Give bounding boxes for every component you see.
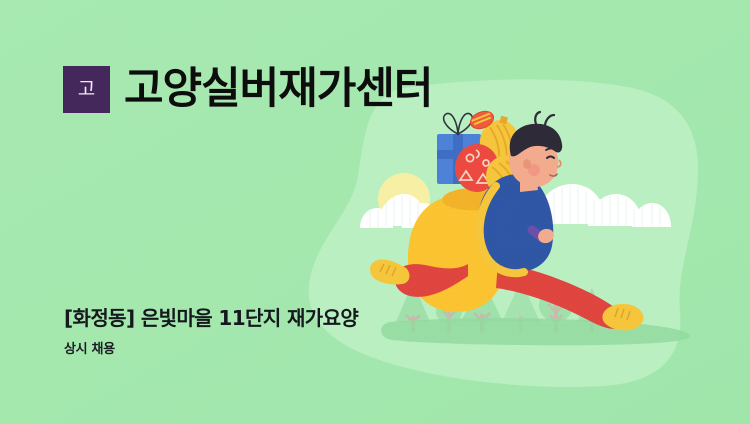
organization-title: 고양실버재가센터 [124, 68, 432, 111]
job-status-badge: 상시 채용 [64, 342, 358, 358]
header-logo-row: 고 고양실버재가센터 [63, 66, 432, 113]
organization-initial-badge-label: 고 [78, 80, 95, 99]
caption-block: [화정동] 은빛마을 11단지 재가요양 상시 채용 [64, 306, 358, 358]
job-posting-card: 고 고양실버재가센터 [화정동] 은빛마을 11단지 재가요양 상시 채용 [0, 0, 750, 424]
organization-initial-badge: 고 [63, 66, 110, 113]
job-title: [화정동] 은빛마을 11단지 재가요양 [64, 306, 358, 331]
